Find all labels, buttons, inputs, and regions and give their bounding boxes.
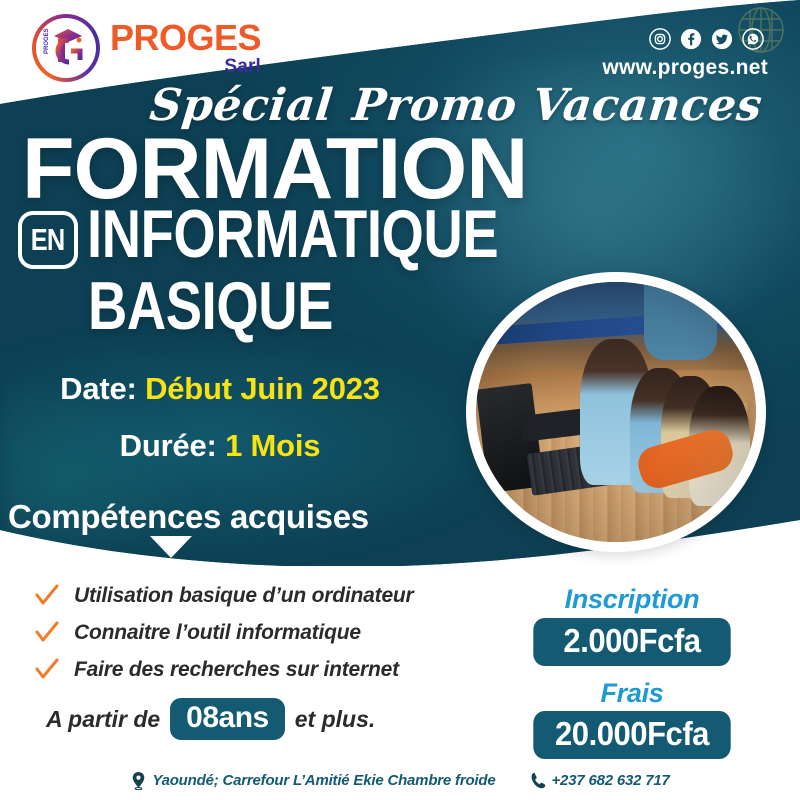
twitter-icon[interactable] [711, 28, 733, 50]
brand-logo[interactable]: PROGES PROGES Sarl [32, 14, 261, 82]
phone-text: +237 682 632 717 [552, 772, 670, 789]
skill-text: Connaitre l’outil informatique [74, 621, 361, 645]
skill-text: Faire des recherches sur internet [74, 658, 399, 682]
course-meta: Date: Début Juin 2023 Durée: 1 Mois [0, 372, 440, 463]
duree-value: 1 Mois [225, 428, 320, 463]
price-group-frais: Frais 20.000Fcfa [527, 679, 737, 760]
duree-label: Durée: [120, 428, 217, 463]
en-badge: EN [18, 211, 78, 269]
skill-text: Utilisation basique d’un ordinateur [74, 584, 414, 608]
age-badge: 08ans [170, 698, 285, 740]
age-requirement: A partir de 08ans et plus. [46, 698, 375, 740]
students-photo-image [476, 282, 756, 542]
whatsapp-icon[interactable] [742, 28, 764, 50]
price-group-inscription: Inscription 2.000Fcfa [527, 585, 737, 666]
check-icon [34, 620, 60, 646]
price-amount: 2.000Fcfa [533, 618, 730, 666]
brand-name: PROGES [110, 20, 261, 56]
age-prefix: A partir de [46, 706, 160, 733]
phone-icon [530, 771, 547, 790]
list-item: Connaitre l’outil informatique [34, 620, 414, 646]
date-value-line2: 2023 [312, 371, 380, 406]
price-label: Inscription [527, 585, 737, 615]
price-amount: 20.000Fcfa [533, 711, 730, 759]
skills-heading: Compétences acquises : [8, 498, 382, 582]
date-value-line1: Début Juin [145, 371, 303, 406]
list-item: Utilisation basique d’un ordinateur [34, 583, 414, 609]
website-url[interactable]: www.proges.net [602, 56, 768, 80]
list-item: Faire des recherches sur internet [34, 657, 414, 683]
skills-list: Utilisation basique d’un ordinateur Conn… [34, 583, 414, 683]
course-date: Date: Début Juin 2023 [0, 372, 440, 407]
logo-badge: PROGES [32, 14, 100, 82]
footer-phone[interactable]: +237 682 632 717 [530, 771, 670, 790]
headline-informatique-row: EN INFORMATIQUE [18, 206, 601, 269]
photo-vignette [476, 282, 756, 542]
brand-wordmark: PROGES Sarl [110, 20, 261, 76]
facebook-icon[interactable] [680, 28, 702, 50]
social-links[interactable] [649, 28, 764, 50]
students-photo [466, 272, 766, 552]
date-label: Date: [60, 371, 137, 406]
svg-text:PROGES: PROGES [44, 28, 50, 54]
footer-contact: Yaoundé; Carrefour L’Amitié Ekie Chambre… [0, 771, 800, 790]
instagram-icon[interactable] [649, 28, 671, 50]
footer-address: Yaoundé; Carrefour L’Amitié Ekie Chambre… [130, 771, 495, 790]
course-duration: Durée: 1 Mois [0, 429, 440, 464]
headline-informatique: INFORMATIQUE [87, 206, 498, 263]
check-icon [34, 657, 60, 683]
en-badge-label: EN [31, 222, 65, 258]
flyer-canvas: PROGES PROGES Sarl www.proges.net [0, 0, 800, 800]
price-label: Frais [527, 679, 737, 709]
down-arrow-icon [150, 536, 192, 558]
age-suffix: et plus. [295, 706, 376, 733]
headline-basique: BASIQUE [88, 278, 333, 335]
check-icon [34, 583, 60, 609]
graduation-cap-monogram-icon: PROGES [38, 20, 94, 76]
map-pin-icon [130, 771, 147, 790]
pricing: Inscription 2.000Fcfa Frais 20.000Fcfa [527, 585, 737, 759]
brand-sub: Sarl [110, 57, 261, 76]
address-text: Yaoundé; Carrefour L’Amitié Ekie Chambre… [152, 772, 495, 789]
